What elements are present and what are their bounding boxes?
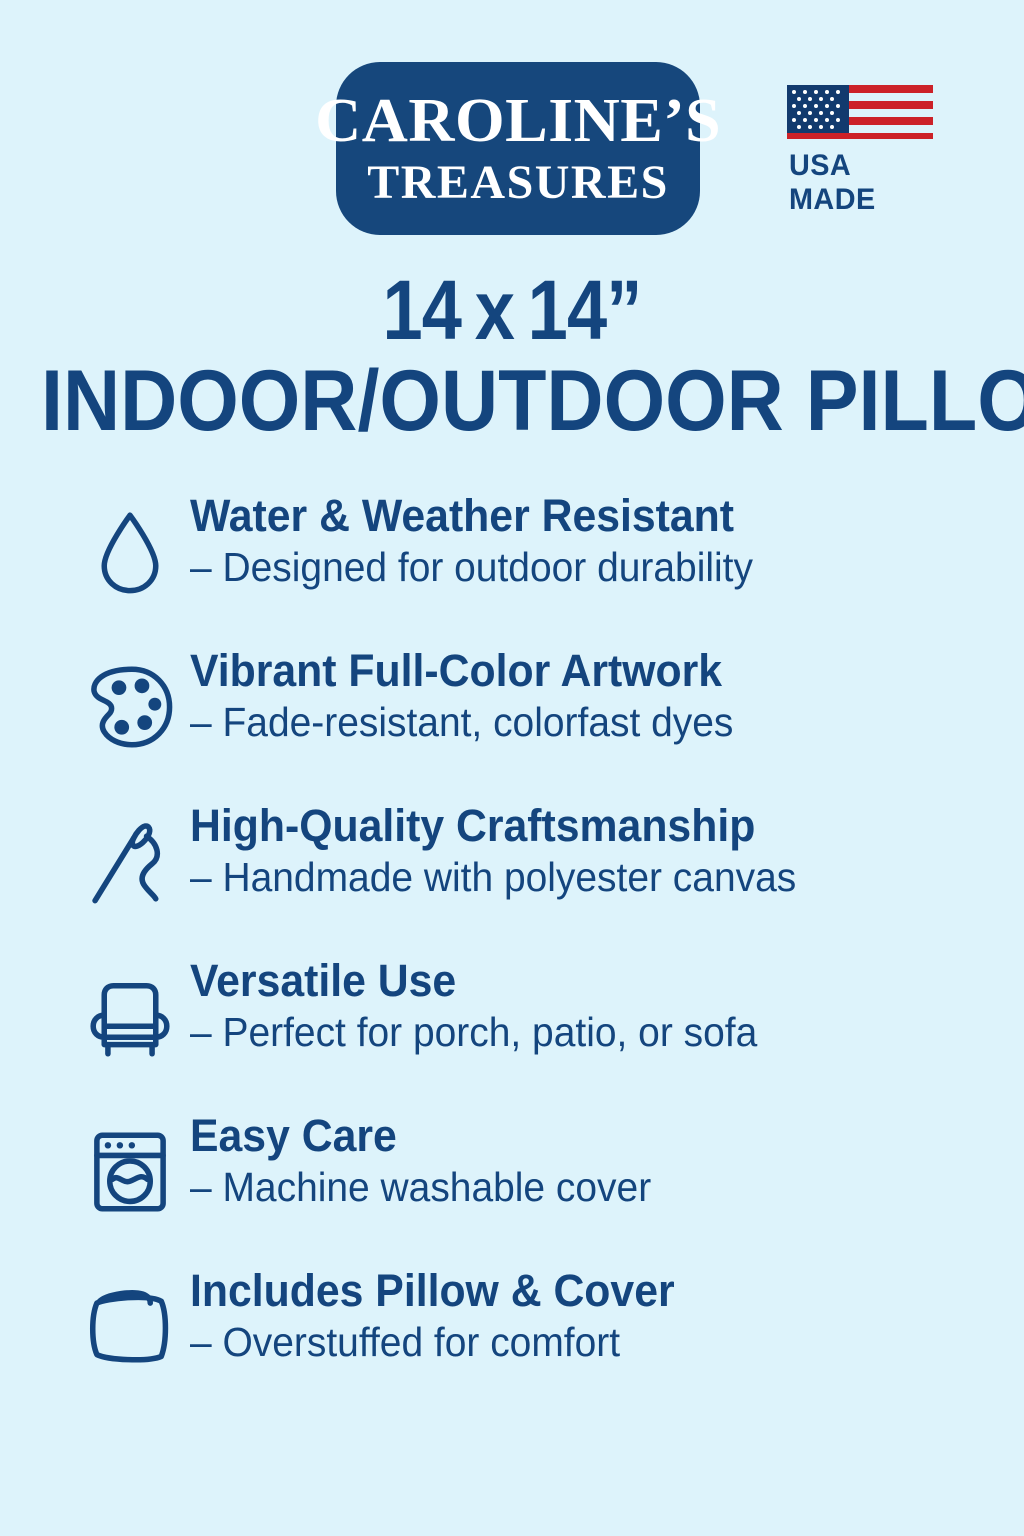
feature-subtitle: – Overstuffed for comfort [190,1319,982,1366]
feature-item: Includes Pillow & Cover – Overstuffed fo… [0,1267,1024,1422]
feature-item: Versatile Use – Perfect for porch, patio… [0,957,1024,1112]
feature-title: Vibrant Full-Color Artwork [190,647,982,695]
feature-item: Vibrant Full-Color Artwork – Fade-resist… [0,647,1024,802]
usa-made-badge: USA MADE [786,85,934,217]
feature-subtitle: – Perfect for porch, patio, or sofa [190,1009,982,1056]
paint-palette-icon [82,659,178,755]
washing-machine-icon [82,1124,178,1220]
feature-item: Water & Weather Resistant – Designed for… [0,492,1024,647]
product-title: INDOOR/OUTDOOR PILLOW [41,358,983,444]
header: CAROLINE’S TREASURES [0,62,1024,237]
feature-subtitle: – Handmade with polyester canvas [190,854,982,901]
armchair-icon [82,969,178,1065]
brand-logo-line2: TREASURES [367,155,669,210]
pillow-icon [82,1279,178,1375]
usa-flag-icon [787,85,933,139]
feature-title: High-Quality Craftsmanship [190,802,982,850]
size-title: 14 x 14” [72,268,953,352]
brand-logo-badge: CAROLINE’S TREASURES [336,62,700,235]
flag-canton [787,85,849,133]
feature-title: Easy Care [190,1112,982,1160]
water-drop-icon [82,504,178,600]
feature-title: Includes Pillow & Cover [190,1267,982,1315]
feature-item: High-Quality Craftsmanship – Handmade wi… [0,802,1024,957]
needle-thread-icon [82,814,178,910]
feature-list: Water & Weather Resistant – Designed for… [0,492,1024,1422]
brand-logo-line1: CAROLINE’S [315,91,721,152]
feature-title: Versatile Use [190,957,982,1005]
feature-subtitle: – Designed for outdoor durability [190,544,982,591]
feature-item: Easy Care – Machine washable cover [0,1112,1024,1267]
feature-title: Water & Weather Resistant [190,492,982,540]
feature-subtitle: – Fade-resistant, colorfast dyes [190,699,982,746]
usa-made-label: USA MADE [789,149,931,217]
feature-subtitle: – Machine washable cover [190,1164,982,1211]
